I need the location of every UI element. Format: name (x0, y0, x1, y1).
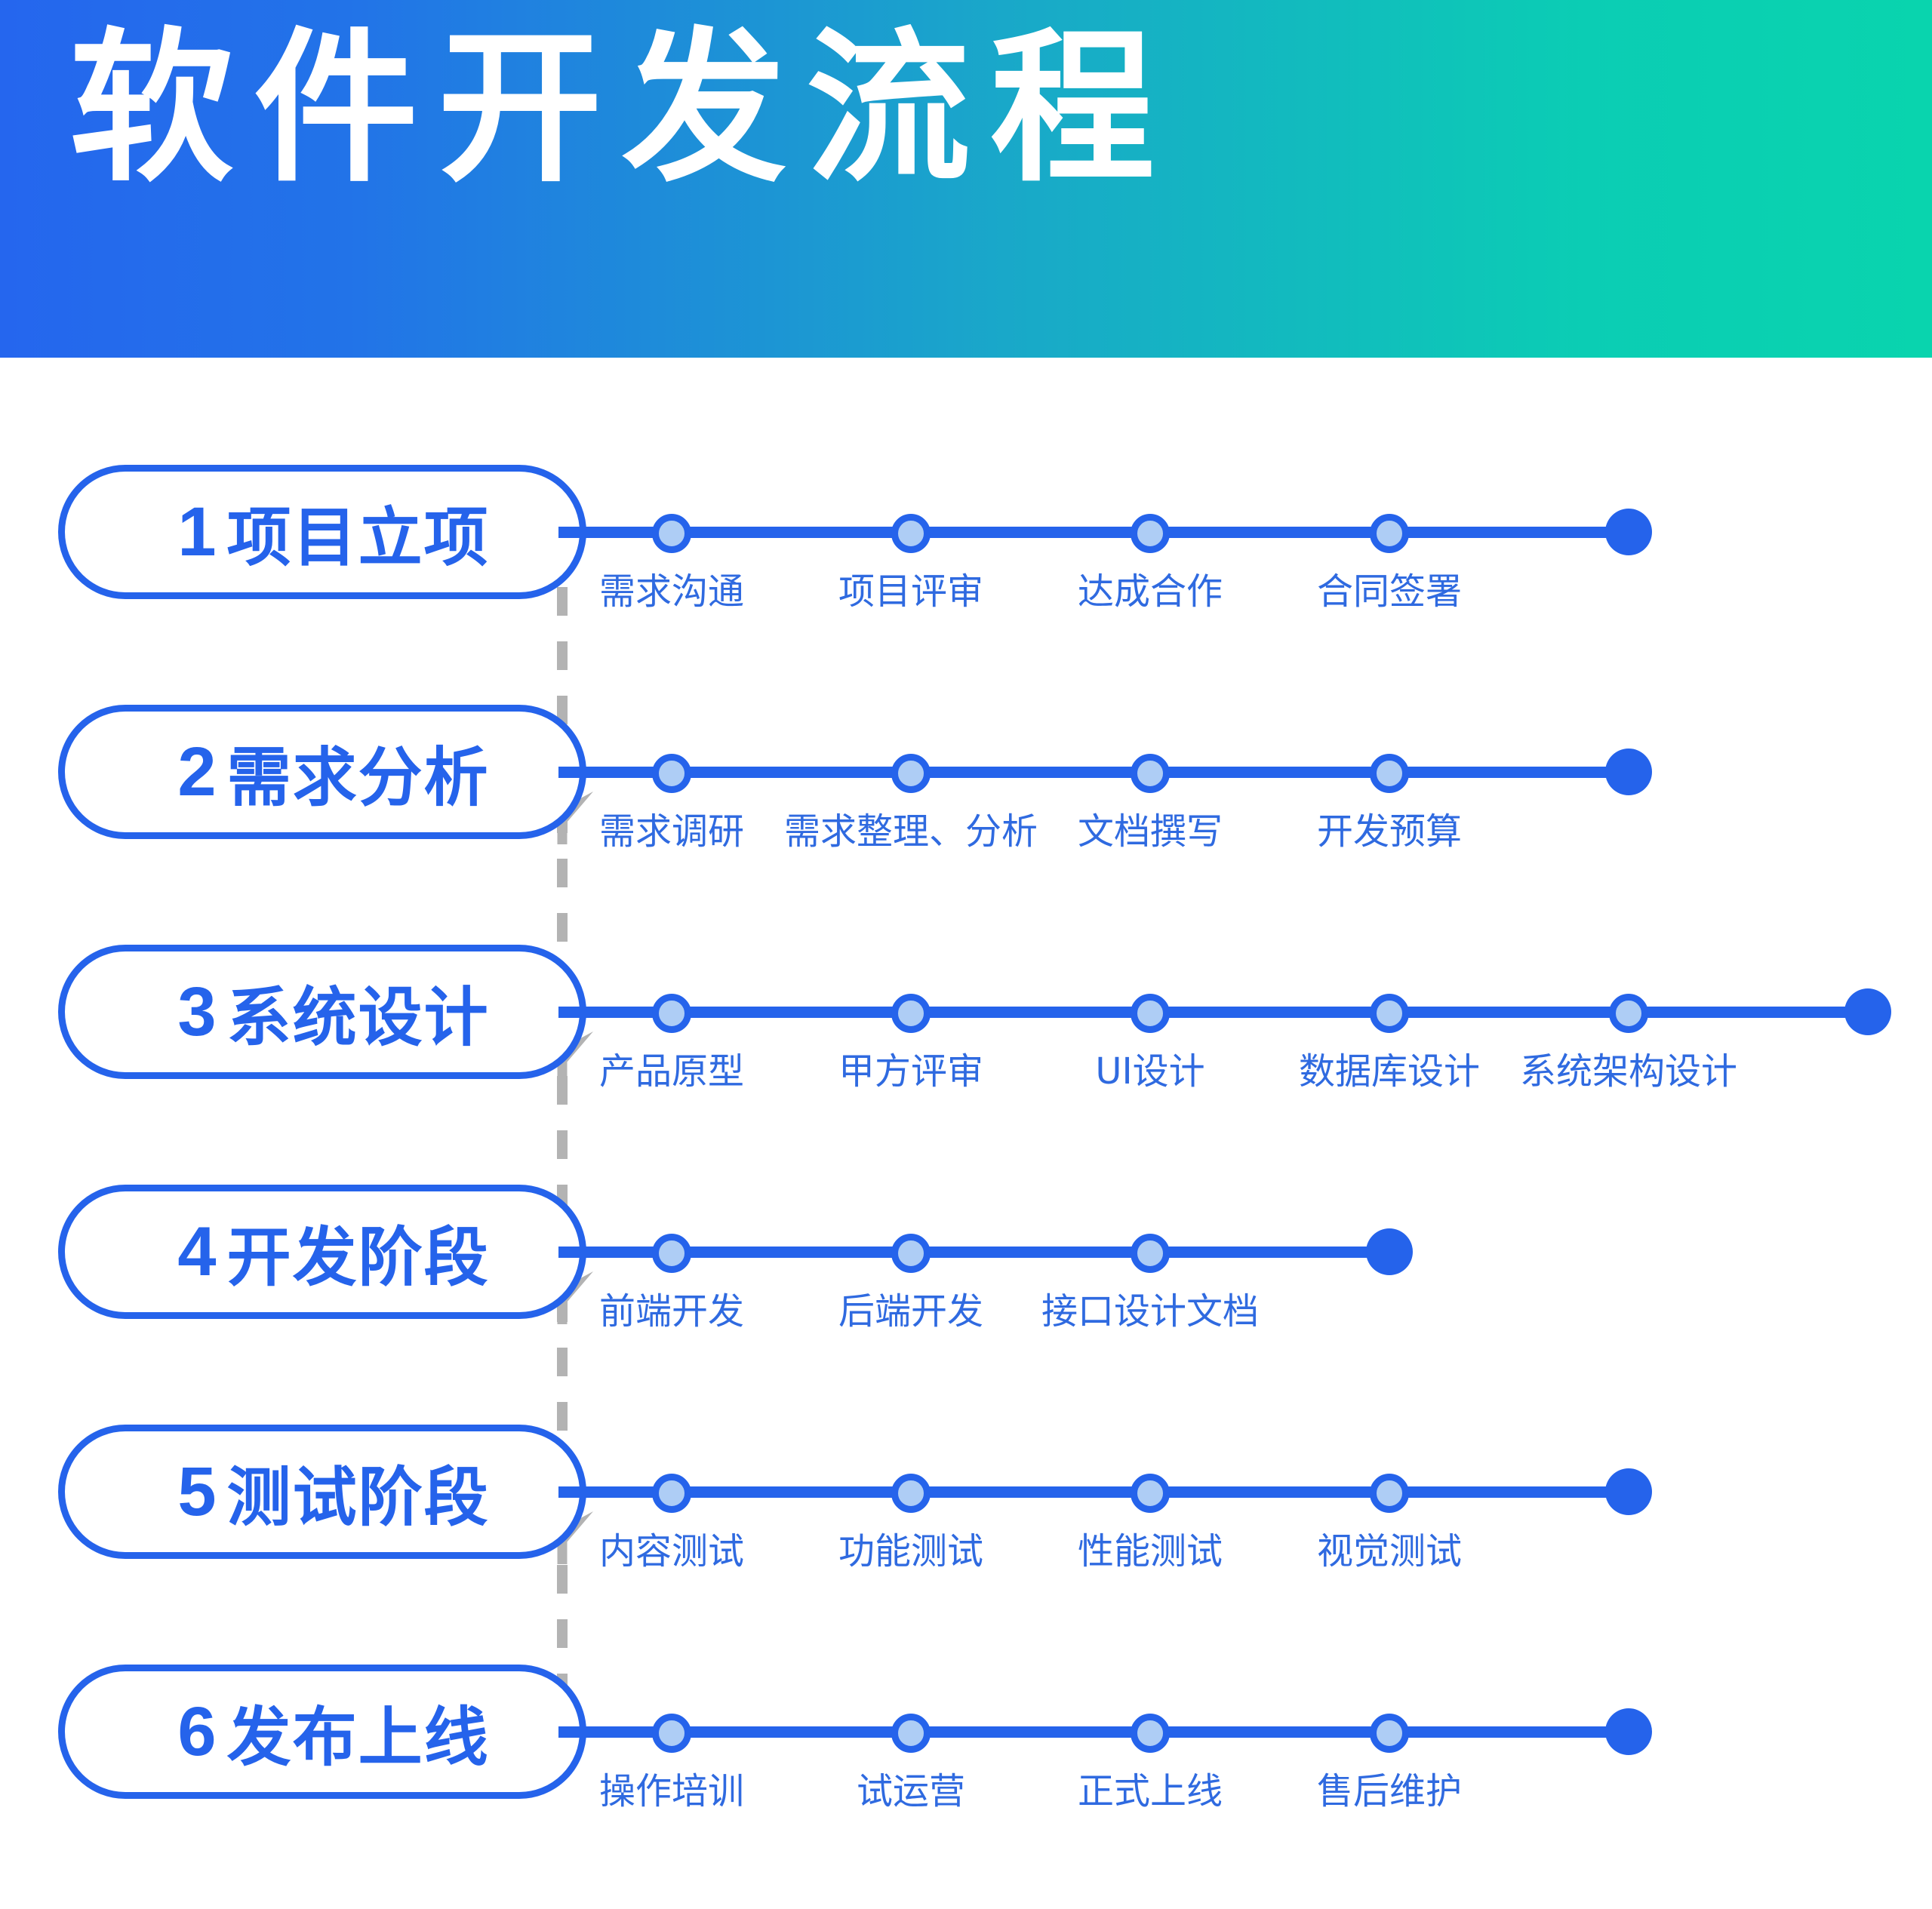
stage-pill-label: 3系统设计 (65, 951, 580, 1072)
stage-pill-label: 2需求分析 (65, 712, 580, 832)
step-label: 售后维护 (1317, 1761, 1462, 1814)
header-banner: 软件开发流程 (0, 0, 1932, 358)
step-node[interactable] (1131, 754, 1170, 793)
step-label: 性能测试 (1078, 1521, 1223, 1574)
step-node[interactable] (1370, 1714, 1409, 1753)
step-label: 文档撰写 (1078, 801, 1223, 854)
step-label: 内容测试 (599, 1521, 744, 1574)
stage-number: 3 (177, 973, 217, 1052)
step-node[interactable] (1370, 754, 1409, 793)
step-node[interactable] (1370, 994, 1409, 1033)
step-label: 需求调研 (599, 801, 744, 854)
stage-end-node (1605, 749, 1652, 795)
stage-row: 2需求分析需求调研需求整理、分析文档撰写开发预算 (0, 705, 1932, 945)
step-node[interactable] (891, 994, 931, 1033)
step-node[interactable] (891, 514, 931, 553)
stage-number: 2 (177, 733, 217, 812)
step-node[interactable] (891, 1234, 931, 1273)
stage-pill-6[interactable]: 6发布上线 (58, 1665, 586, 1799)
stage-row: 3系统设计产品原型甲方评审UI设计数据库设计系统架构设计 (0, 945, 1932, 1185)
stage-title: 开发阶段 (227, 1206, 490, 1299)
step-node[interactable] (1131, 1474, 1170, 1513)
step-node[interactable] (1131, 1234, 1170, 1273)
stage-pill-4[interactable]: 4开发阶段 (58, 1185, 586, 1319)
stage-title: 需求分析 (227, 726, 490, 819)
step-label: 达成合作 (1078, 561, 1223, 614)
stage-row: 4开发阶段前端开发后端开发接口设计文档 (0, 1185, 1932, 1425)
stage-end-node (1605, 1708, 1652, 1755)
stage-row: 6发布上线操作培训试运营正式上线售后维护 (0, 1665, 1932, 1904)
stage-pill-label: 4开发阶段 (65, 1191, 580, 1312)
stage-end-node (1366, 1228, 1413, 1275)
stage-track-line (558, 1007, 1868, 1018)
step-label: 甲方评审 (838, 1041, 983, 1094)
step-label: 需求整理、分析 (784, 801, 1038, 854)
step-label: 后端开发 (838, 1281, 983, 1334)
stage-pill-2[interactable]: 2需求分析 (58, 705, 586, 839)
step-node[interactable] (652, 754, 691, 793)
step-label: 产品原型 (599, 1041, 744, 1094)
step-node[interactable] (652, 1234, 691, 1273)
step-node[interactable] (891, 1474, 931, 1513)
stage-track-line (558, 527, 1629, 538)
step-node[interactable] (891, 754, 931, 793)
step-label: 操作培训 (599, 1761, 744, 1814)
step-node[interactable] (1131, 1714, 1170, 1753)
stage-pill-label: 6发布上线 (65, 1671, 580, 1792)
stage-pill-1[interactable]: 1项目立项 (58, 465, 586, 599)
step-label: 正式上线 (1078, 1761, 1223, 1814)
stage-end-node (1844, 988, 1891, 1035)
step-node[interactable] (652, 1714, 691, 1753)
stage-number: 5 (177, 1452, 217, 1532)
step-node[interactable] (652, 994, 691, 1033)
stage-title: 测试阶段 (227, 1446, 490, 1539)
step-node[interactable] (1131, 994, 1170, 1033)
page-title: 软件开发流程 (69, 27, 1174, 192)
step-node[interactable] (652, 514, 691, 553)
stage-track-line (558, 767, 1629, 778)
step-label: UI设计 (1095, 1041, 1204, 1094)
stage-row: 1项目立项需求沟通项目评审达成合作合同签署 (0, 465, 1932, 705)
stage-number: 4 (177, 1213, 217, 1292)
step-label: 系统架构设计 (1520, 1041, 1737, 1094)
step-label: 需求沟通 (599, 561, 744, 614)
stage-title: 项目立项 (227, 486, 490, 579)
stage-end-node (1605, 1468, 1652, 1515)
step-label: 接口设计文档 (1041, 1281, 1259, 1334)
step-label: 前端开发 (599, 1281, 744, 1334)
step-node[interactable] (652, 1474, 691, 1513)
stage-title: 系统设计 (227, 966, 490, 1059)
step-label: 开发预算 (1317, 801, 1462, 854)
step-label: 功能测试 (838, 1521, 983, 1574)
stage-row: 5测试阶段内容测试功能测试性能测试视觉测试 (0, 1425, 1932, 1665)
step-label: 试运营 (857, 1761, 965, 1814)
stage-end-node (1605, 509, 1652, 555)
stage-pill-label: 5测试阶段 (65, 1431, 580, 1552)
stage-pill-5[interactable]: 5测试阶段 (58, 1425, 586, 1559)
stage-pill-label: 1项目立项 (65, 472, 580, 592)
step-node[interactable] (1131, 514, 1170, 553)
step-label: 视觉测试 (1317, 1521, 1462, 1574)
stage-number: 6 (177, 1692, 217, 1772)
step-label: 数据库设计 (1299, 1041, 1480, 1094)
stage-track-line (558, 1726, 1629, 1738)
step-node[interactable] (1370, 514, 1409, 553)
stage-title: 发布上线 (227, 1686, 490, 1778)
stage-pill-3[interactable]: 3系统设计 (58, 945, 586, 1079)
stage-track-line (558, 1486, 1629, 1498)
step-node[interactable] (891, 1714, 931, 1753)
step-label: 项目评审 (838, 561, 983, 614)
step-label: 合同签署 (1317, 561, 1462, 614)
step-node[interactable] (1370, 1474, 1409, 1513)
stage-number: 1 (177, 493, 217, 572)
step-node[interactable] (1609, 994, 1648, 1033)
